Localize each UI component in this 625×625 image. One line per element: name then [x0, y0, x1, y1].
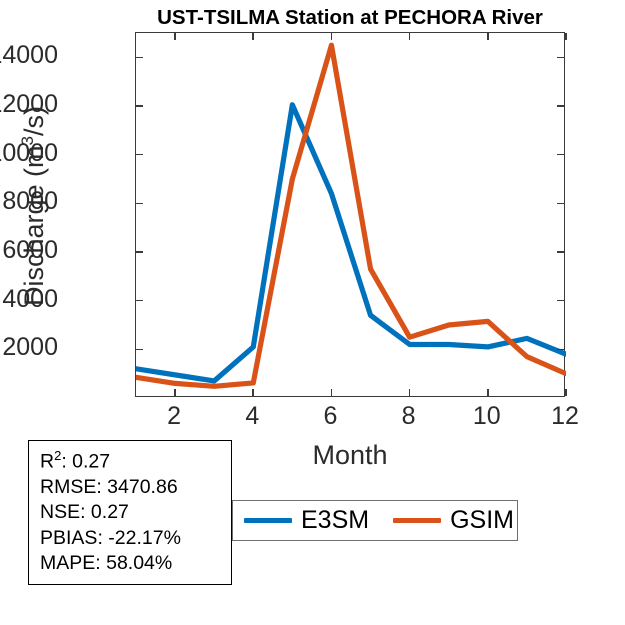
y-tick-mark [557, 57, 564, 59]
x-tick-mark [252, 389, 254, 396]
legend-swatch-e3sm-icon [244, 518, 292, 524]
y-tick-mark [136, 349, 143, 351]
stat-nse: NSE: 0.27 [40, 500, 222, 525]
stat-rmse: RMSE: 3470.86 [40, 475, 222, 500]
x-tick-label: 4 [222, 404, 282, 429]
y-tick-mark [136, 300, 143, 302]
x-tick-mark [174, 33, 176, 40]
x-tick-mark [409, 389, 411, 396]
legend-item-gsim[interactable]: GSIM [393, 508, 514, 533]
stat-mape: MAPE: 58.04% [40, 551, 222, 576]
y-tick-mark [557, 154, 564, 156]
y-tick-mark [557, 203, 564, 205]
x-tick-mark [487, 389, 489, 396]
x-tick-mark [331, 33, 333, 40]
plot-lines [136, 33, 566, 398]
x-tick-mark [174, 389, 176, 396]
legend-label-e3sm: E3SM [301, 508, 369, 533]
legend-label-gsim: GSIM [450, 508, 514, 533]
x-tick-mark [409, 33, 411, 40]
y-tick-label: 2000 [2, 335, 58, 360]
y-tick-mark [557, 251, 564, 253]
y-axis-label-text: Discharge (m [19, 145, 49, 306]
y-tick-mark [557, 349, 564, 351]
legend-swatch-gsim-icon [393, 518, 441, 524]
x-tick-label: 6 [300, 404, 360, 429]
y-tick-mark [136, 251, 143, 253]
y-tick-label: 4000 [2, 287, 58, 312]
y-tick-label: 12000 [0, 92, 58, 117]
x-tick-label: 12 [535, 404, 595, 429]
y-tick-label: 10000 [0, 141, 58, 166]
x-tick-mark [487, 33, 489, 40]
x-tick-label: 2 [144, 404, 204, 429]
x-tick-mark [331, 389, 333, 396]
x-tick-mark [565, 33, 567, 40]
chart-root: UST-TSILMA Station at PECHORA River Disc… [0, 0, 625, 625]
y-tick-label: 6000 [2, 238, 58, 263]
y-tick-mark [136, 203, 143, 205]
stat-r2: R2: 0.27 [40, 448, 222, 475]
statistics-box: R2: 0.27 RMSE: 3470.86 NSE: 0.27 PBIAS: … [28, 440, 232, 585]
chart-title: UST-TSILMA Station at PECHORA River [135, 6, 565, 30]
y-tick-mark [557, 300, 564, 302]
y-tick-mark [136, 105, 143, 107]
chart-legend[interactable]: E3SM GSIM [232, 500, 518, 541]
series-line-gsim [136, 45, 566, 386]
y-tick-label: 8000 [2, 189, 58, 214]
x-tick-mark [252, 33, 254, 40]
x-tick-label: 10 [457, 404, 517, 429]
plot-area [135, 32, 565, 397]
legend-item-e3sm[interactable]: E3SM [244, 508, 369, 533]
stat-pbias: PBIAS: -22.17% [40, 526, 222, 551]
x-tick-label: 8 [379, 404, 439, 429]
y-tick-mark [136, 154, 143, 156]
y-tick-label: 14000 [0, 43, 58, 68]
y-tick-mark [557, 105, 564, 107]
x-tick-mark [565, 389, 567, 396]
y-tick-mark [136, 57, 143, 59]
